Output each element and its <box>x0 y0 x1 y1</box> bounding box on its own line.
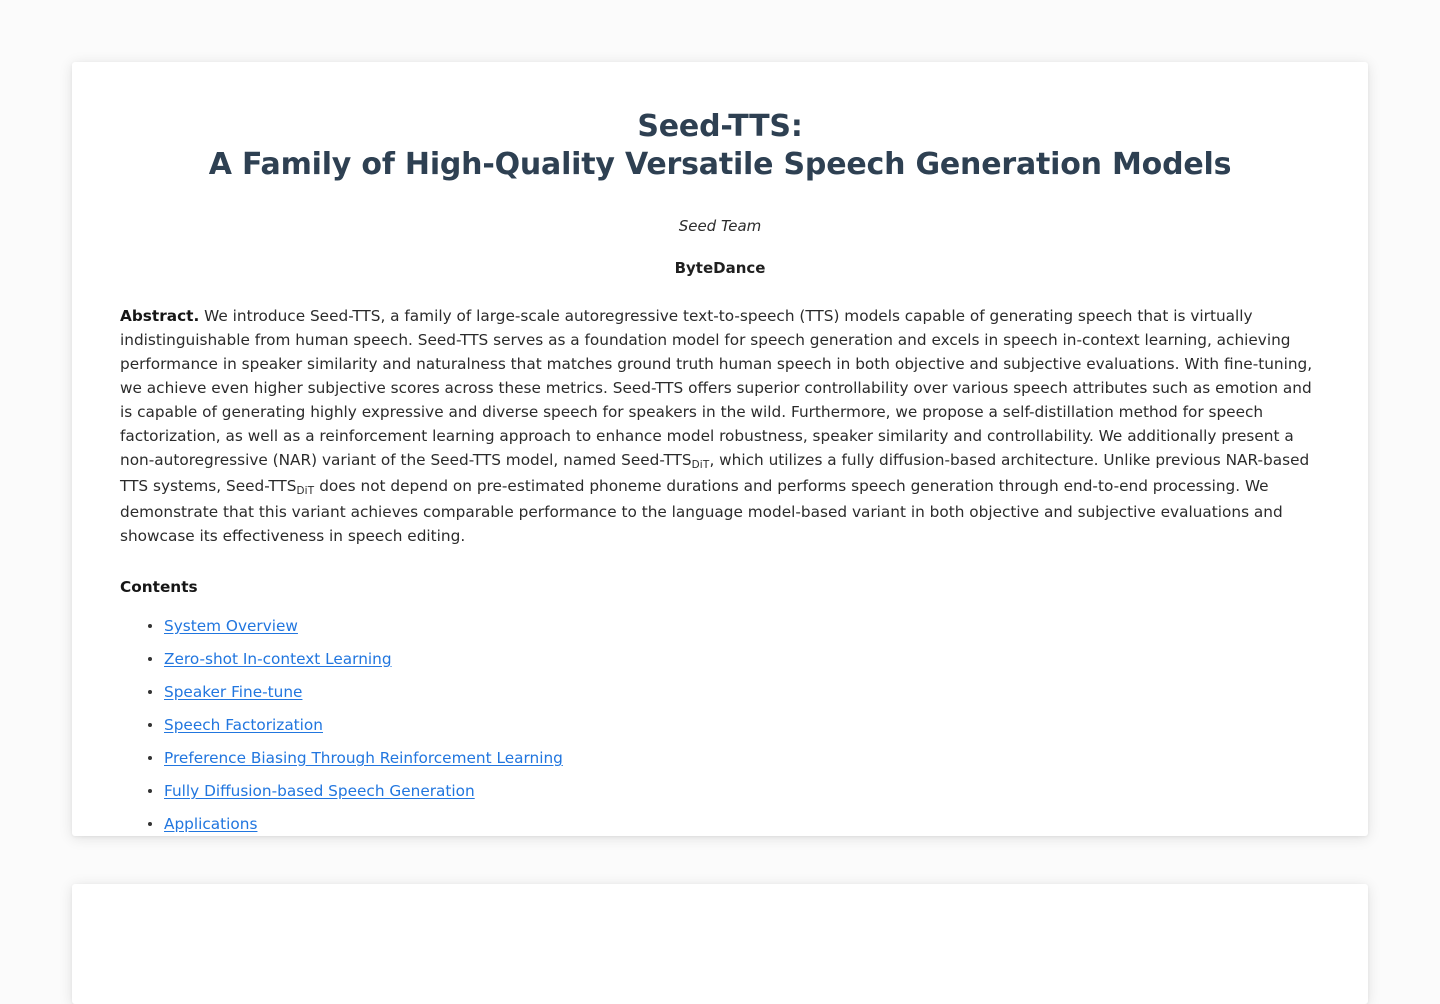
toc-link-applications[interactable]: Applications <box>164 815 257 833</box>
paper-card-next <box>72 884 1368 1004</box>
paper-affiliation: ByteDance <box>120 258 1320 278</box>
abstract-paragraph: Abstract. We introduce Seed-TTS, a famil… <box>120 304 1320 548</box>
abstract-text-part-1: We introduce Seed-TTS, a family of large… <box>120 307 1312 469</box>
toc-link-zero-shot-in-context-learning[interactable]: Zero-shot In-context Learning <box>164 650 392 668</box>
toc-link-speaker-fine-tune[interactable]: Speaker Fine-tune <box>164 683 302 701</box>
list-item: Speech Factorization <box>120 715 1320 735</box>
list-item: Applications <box>120 814 1320 834</box>
list-item: Fully Diffusion-based Speech Generation <box>120 781 1320 801</box>
list-item: Speaker Fine-tune <box>120 682 1320 702</box>
abstract-label: Abstract. <box>120 307 199 325</box>
paper-card-main: Seed-TTS: A Family of High-Quality Versa… <box>72 62 1368 836</box>
page-title-line-2: A Family of High-Quality Versatile Speec… <box>120 146 1320 184</box>
paper-title-block: Seed-TTS: A Family of High-Quality Versa… <box>120 108 1320 184</box>
list-item: System Overview <box>120 616 1320 636</box>
contents-list: System Overview Zero-shot In-context Lea… <box>120 616 1320 834</box>
page-title-line-1: Seed-TTS: <box>120 108 1320 146</box>
toc-link-fully-diffusion-based-speech-generation[interactable]: Fully Diffusion-based Speech Generation <box>164 782 475 800</box>
abstract-subscript-dit-1: DiT <box>692 459 710 471</box>
list-item: Preference Biasing Through Reinforcement… <box>120 748 1320 768</box>
paper-authors: Seed Team <box>120 216 1320 236</box>
toc-link-speech-factorization[interactable]: Speech Factorization <box>164 716 323 734</box>
contents-heading: Contents <box>120 576 1320 598</box>
toc-link-preference-biasing-through-reinforcement-learning[interactable]: Preference Biasing Through Reinforcement… <box>164 749 563 767</box>
toc-link-system-overview[interactable]: System Overview <box>164 617 298 635</box>
list-item: Zero-shot In-context Learning <box>120 649 1320 669</box>
abstract-subscript-dit-2: DiT <box>296 485 314 497</box>
